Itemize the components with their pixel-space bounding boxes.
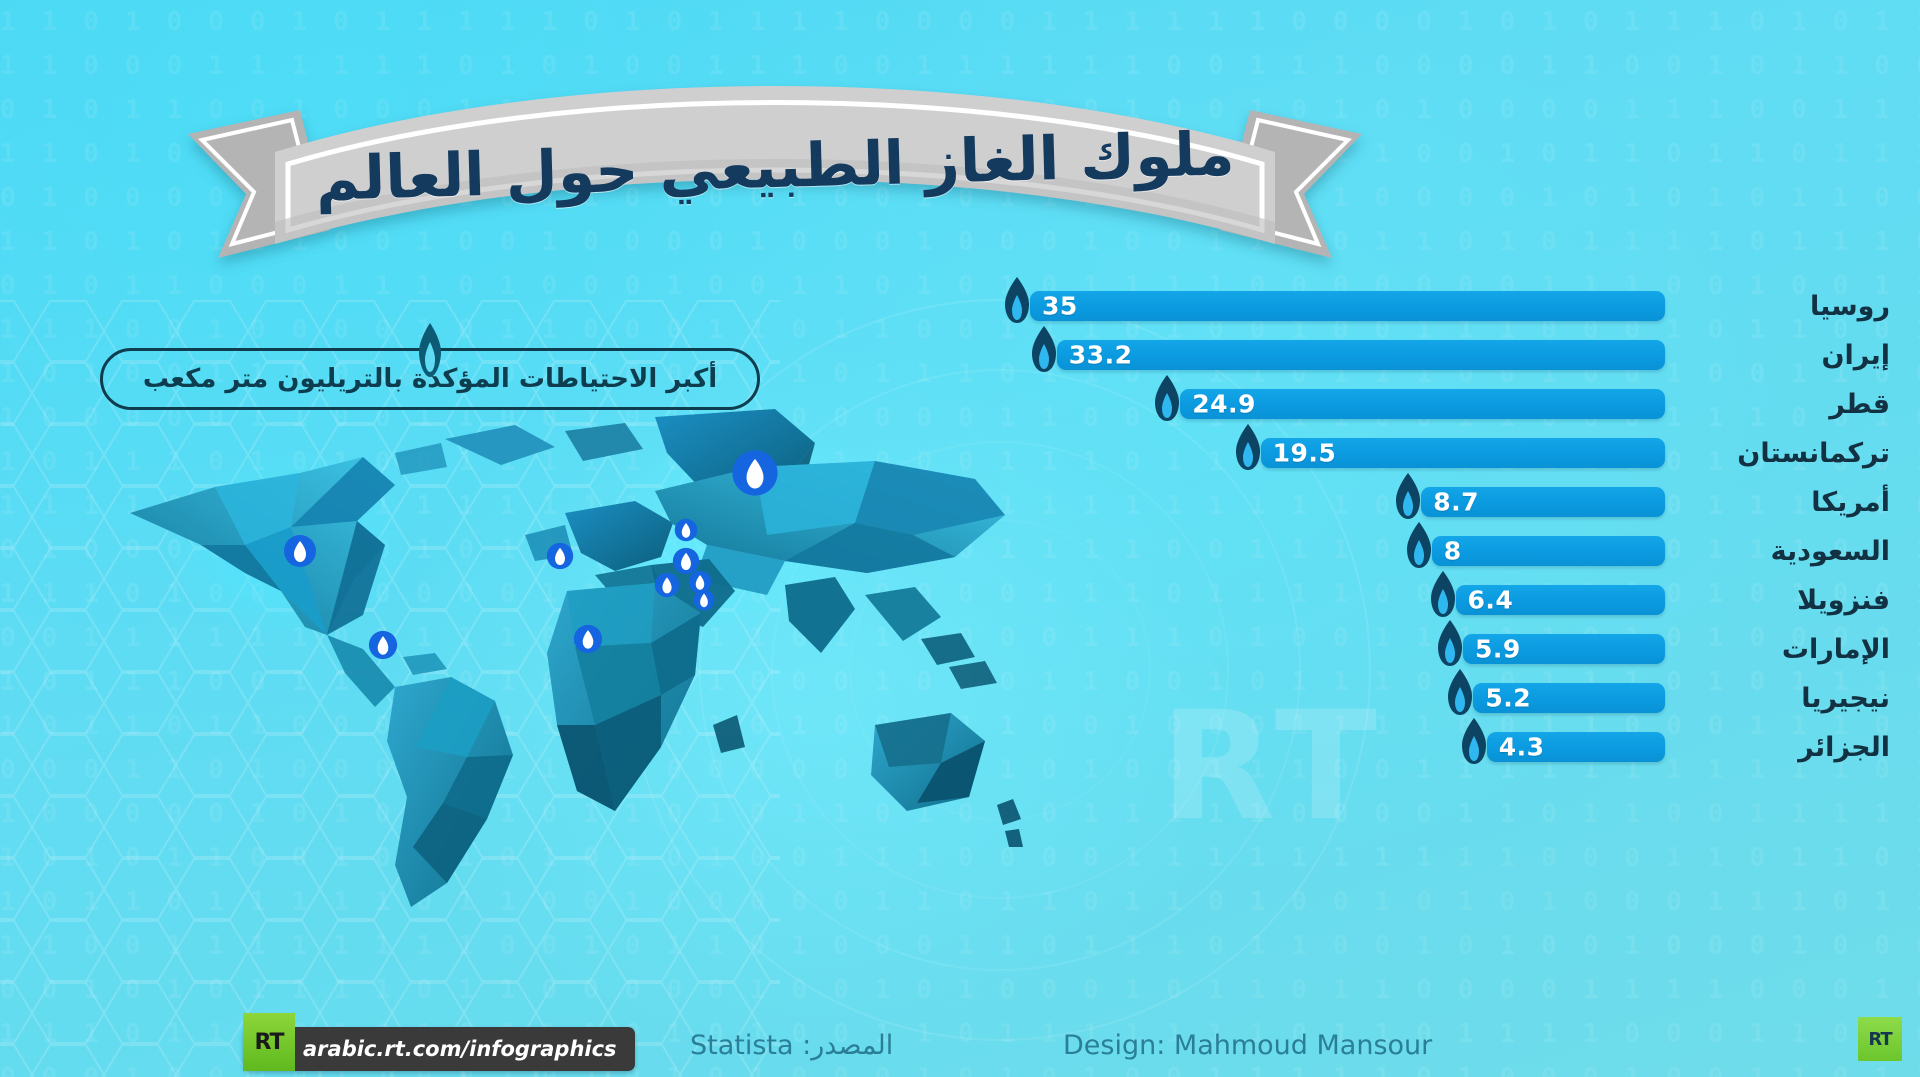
- value-bar[interactable]: 5.2: [1473, 683, 1665, 713]
- bar-value-label: 5.2: [1485, 684, 1531, 713]
- chart-row: 6.4فنزويلا: [1030, 580, 1900, 629]
- map-marker-venezuela[interactable]: [368, 630, 398, 660]
- chart-row: 4.3الجزائر: [1030, 727, 1900, 776]
- bar-track: 35: [1030, 286, 1665, 324]
- country-label: قطر: [1678, 384, 1900, 424]
- country-label: نيجيريا: [1678, 678, 1900, 718]
- rt-url-text: arabic.rt.com/infographics: [303, 1037, 617, 1061]
- value-bar[interactable]: 6.4: [1456, 585, 1666, 615]
- footer: RT arabic.rt.com/infographics المصدر: St…: [0, 1003, 1920, 1077]
- country-label: الإمارات: [1678, 629, 1900, 669]
- value-bar[interactable]: 5.9: [1463, 634, 1665, 664]
- rt-url-chip[interactable]: RT arabic.rt.com/infographics: [243, 1027, 635, 1071]
- country-label: أمريكا: [1678, 482, 1900, 522]
- bar-track: 8.7: [1030, 482, 1665, 520]
- bar-value-label: 8.7: [1433, 488, 1479, 517]
- map-marker-usa[interactable]: [283, 534, 317, 568]
- value-bar[interactable]: 19.5: [1261, 438, 1665, 468]
- chart-row: 19.5تركمانستان: [1030, 433, 1900, 482]
- value-bar[interactable]: 8.7: [1421, 487, 1665, 517]
- country-label: روسيا: [1678, 286, 1900, 326]
- bar-value-label: 6.4: [1468, 586, 1514, 615]
- chart-row: 35روسيا: [1030, 286, 1900, 335]
- bar-track: 5.9: [1030, 629, 1665, 667]
- map-marker-saudi-arabia[interactable]: [654, 572, 680, 598]
- bar-value-label: 24.9: [1192, 390, 1256, 419]
- value-bar[interactable]: 8: [1432, 536, 1665, 566]
- chart-row: 33.2إيران: [1030, 335, 1900, 384]
- chart-row: 5.2نيجيريا: [1030, 678, 1900, 727]
- value-bar[interactable]: 35: [1030, 291, 1665, 321]
- country-label: إيران: [1678, 335, 1900, 375]
- country-label: تركمانستان: [1678, 433, 1900, 473]
- value-bar[interactable]: 24.9: [1180, 389, 1665, 419]
- infographic-canvas: 1101000101111101011110000111111000010101…: [0, 0, 1920, 1077]
- bar-value-label: 5.9: [1475, 635, 1521, 664]
- bar-value-label: 19.5: [1273, 439, 1337, 468]
- map-marker-turkmenistan[interactable]: [674, 518, 698, 542]
- bar-track: 5.2: [1030, 678, 1665, 716]
- chart-row: 24.9قطر: [1030, 384, 1900, 433]
- map-marker-russia[interactable]: [731, 449, 779, 497]
- rt-corner-logo-icon: RT: [1858, 1017, 1902, 1061]
- country-label: السعودية: [1678, 531, 1900, 571]
- title-ribbon: ملوك الغاز الطبيعي حول العالم: [180, 62, 1370, 262]
- bar-track: 4.3: [1030, 727, 1665, 765]
- rt-logo-icon: RT: [243, 1013, 295, 1071]
- map-marker-uae[interactable]: [693, 589, 715, 611]
- bar-value-label: 8: [1444, 537, 1462, 566]
- bar-track: 6.4: [1030, 580, 1665, 618]
- bar-track: 19.5: [1030, 433, 1665, 471]
- world-map: [95, 395, 1025, 915]
- bar-track: 33.2: [1030, 335, 1665, 373]
- chart-row: 5.9الإمارات: [1030, 629, 1900, 678]
- bar-track: 8: [1030, 531, 1665, 569]
- designer-credit: Design: Mahmoud Mansour: [1063, 1030, 1432, 1061]
- map-marker-algeria[interactable]: [546, 542, 574, 570]
- country-label: فنزويلا: [1678, 580, 1900, 620]
- chart-row: 8السعودية: [1030, 531, 1900, 580]
- rt-logo-text: RT: [255, 1030, 284, 1055]
- map-marker-nigeria[interactable]: [573, 624, 603, 654]
- bar-value-label: 4.3: [1499, 733, 1545, 762]
- gas-reserves-bar-chart: 35روسيا33.2إيران24.9قطر19.5تركمانستان8.7…: [1030, 286, 1900, 806]
- value-bar[interactable]: 4.3: [1487, 732, 1665, 762]
- value-bar[interactable]: 33.2: [1057, 340, 1665, 370]
- country-label: الجزائر: [1678, 727, 1900, 767]
- source-credit: المصدر: Statista: [690, 1030, 893, 1061]
- chart-row: 8.7أمريكا: [1030, 482, 1900, 531]
- bar-value-label: 33.2: [1069, 341, 1133, 370]
- bar-flame-icon: [1000, 276, 1034, 324]
- rt-corner-logo-text: RT: [1868, 1029, 1891, 1050]
- bar-value-label: 35: [1042, 292, 1078, 321]
- bar-track: 24.9: [1030, 384, 1665, 422]
